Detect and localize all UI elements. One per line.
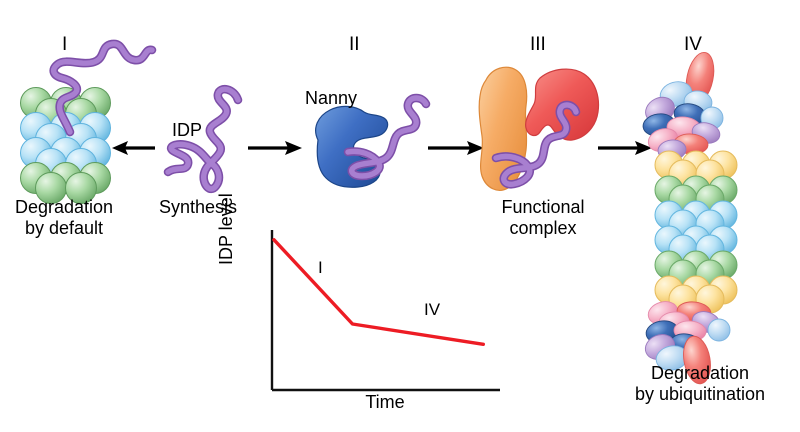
caption-degradation-by-default-line1: Degradation	[0, 197, 128, 217]
caption-degradation-by-default-line2: by default	[0, 218, 128, 238]
chart-annotation-iv: IV	[424, 300, 440, 319]
stage-label-roman-iii: III	[530, 34, 546, 55]
arrow-to-degradation-default	[112, 141, 155, 155]
proteasome-20s-barrel	[21, 88, 111, 204]
chart-y-axis-label: IDP level	[216, 193, 236, 265]
caption-functional-complex-line1: Functional	[478, 197, 608, 217]
proteasome-26s-complex	[641, 50, 737, 386]
stage-label-roman-ii: II	[349, 34, 360, 55]
nanny-label: Nanny	[305, 88, 357, 108]
idp-label: IDP	[172, 120, 202, 140]
idp-level-inset-chart	[272, 230, 500, 390]
stage-label-roman-iv: IV	[684, 34, 702, 55]
arrow-complex-to-ubiquitination	[598, 141, 652, 155]
figure-canvas: I Degradation by default IDP Synthesis I…	[0, 0, 800, 432]
caption-synthesis: Synthesis	[143, 197, 253, 217]
chart-x-axis-label: Time	[320, 392, 450, 412]
caption-functional-complex-line2: complex	[478, 218, 608, 238]
caption-degradation-by-ubiquitination-line1: Degradation	[620, 363, 780, 383]
arrow-nanny-to-complex	[428, 141, 484, 155]
regulatory-cap-top	[641, 50, 723, 162]
chart-decay-curve	[274, 240, 483, 344]
stage-label-roman-i: I	[62, 34, 67, 55]
caption-degradation-by-ubiquitination-line2: by ubiquitination	[612, 384, 788, 404]
chart-annotation-i: I	[318, 258, 323, 277]
arrow-synthesis-to-nanny	[248, 141, 302, 155]
